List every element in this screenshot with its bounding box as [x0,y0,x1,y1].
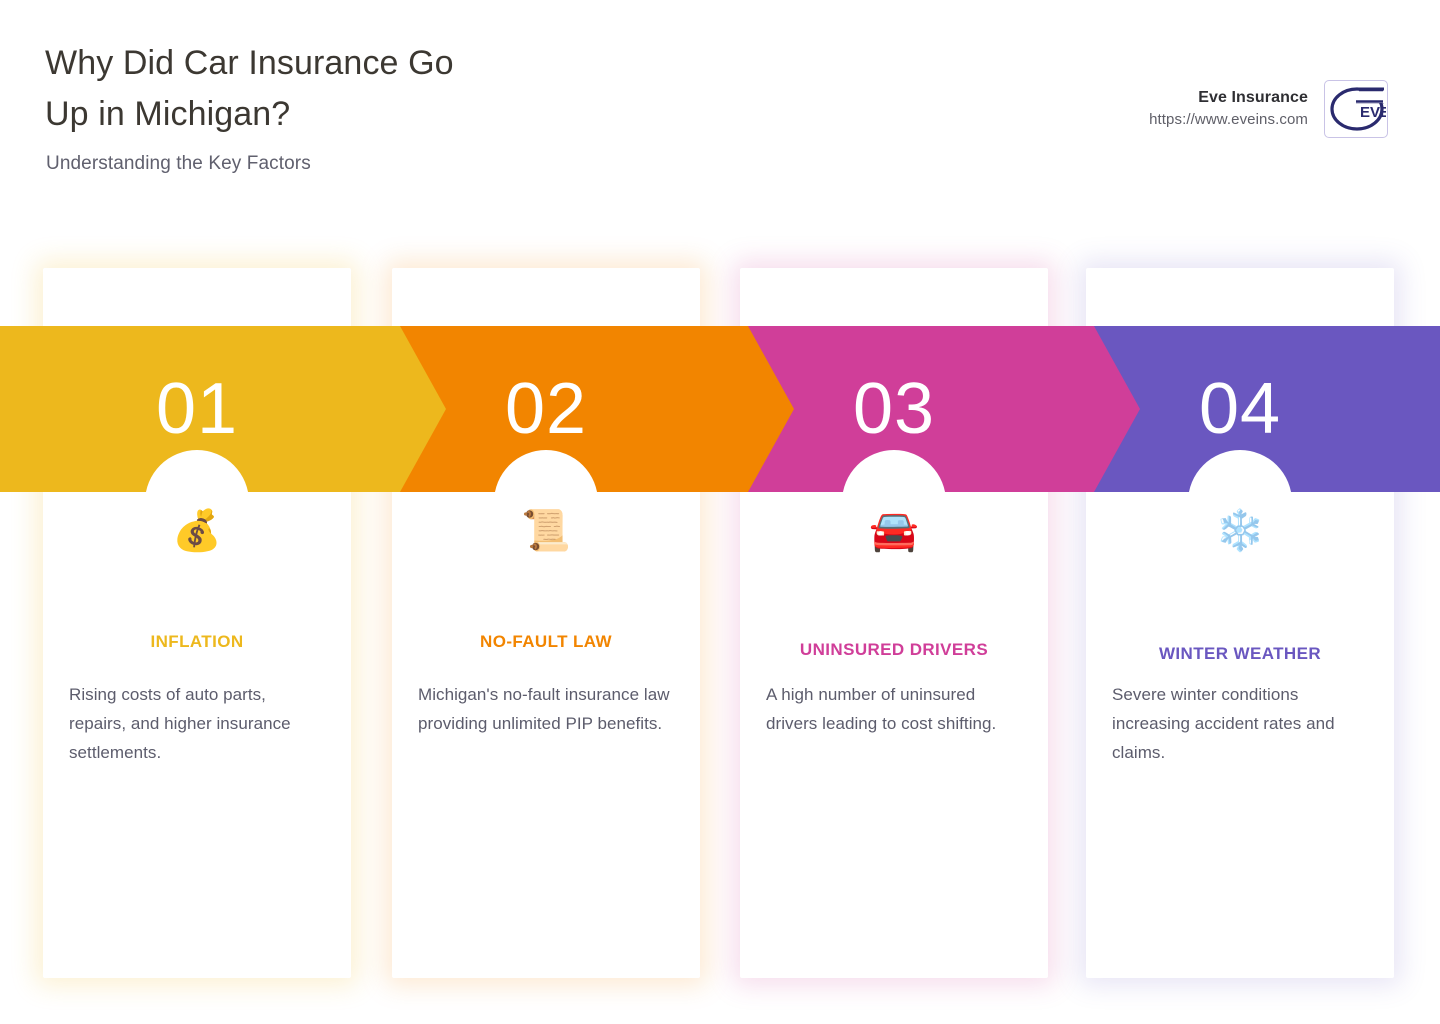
infographic-page: Why Did Car Insurance Go Up in Michigan?… [0,0,1440,1024]
step-card-4-body: WINTER WEATHER Severe winter conditions … [1086,644,1394,767]
snowflake-icon: ❄️ [1086,508,1394,554]
step-card-2-description: Michigan's no-fault insurance law provid… [418,680,674,738]
step-card-3-title: UNINSURED DRIVERS [766,640,1022,660]
step-card-3-body: UNINSURED DRIVERS A high number of unins… [740,640,1048,738]
money-bag-icon: 💰 [43,508,351,554]
chevron-ribbon [0,326,1440,492]
step-card-2-body: NO-FAULT LAW Michigan's no-fault insuran… [392,632,700,738]
step-card-4-description: Severe winter conditions increasing acci… [1112,680,1368,767]
step-card-1-body: INFLATION Rising costs of auto parts, re… [43,632,351,767]
steps-container: 💰 INFLATION Rising costs of auto parts, … [0,0,1440,1024]
car-icon: 🚘 [740,508,1048,554]
chevron-segment-1 [0,326,446,492]
scroll-icon: 📜 [392,508,700,554]
step-card-3-description: A high number of uninsured drivers leadi… [766,680,1022,738]
step-card-2-title: NO-FAULT LAW [418,632,674,652]
step-card-4-title: WINTER WEATHER [1112,644,1368,664]
step-card-1-description: Rising costs of auto parts, repairs, and… [69,680,325,767]
step-card-1-title: INFLATION [69,632,325,652]
chevron-ribbon-svg [0,326,1440,492]
